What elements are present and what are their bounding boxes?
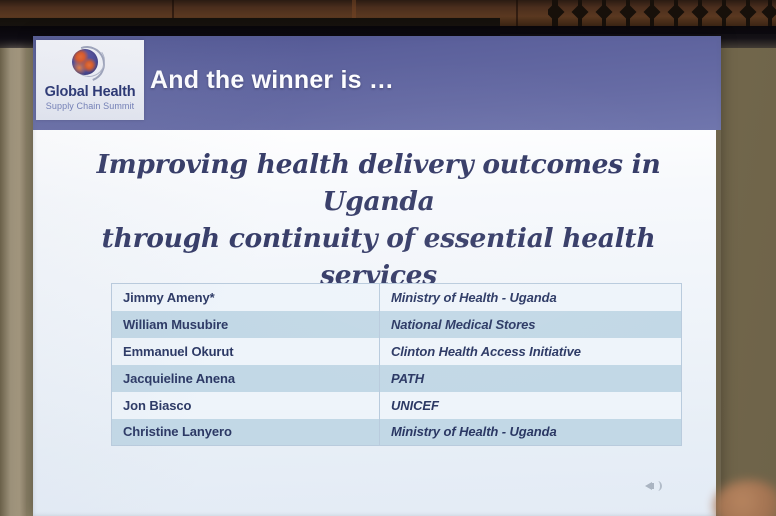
presentation-photo-scene: Global Health Supply Chain Summit And th… bbox=[0, 0, 776, 516]
author-organization: National Medical Stores bbox=[380, 311, 682, 338]
author-name: Christine Lanyero bbox=[112, 419, 380, 446]
speaker-icon[interactable] bbox=[645, 479, 661, 493]
author-name: Jon Biasco bbox=[112, 392, 380, 419]
table-row: Christine Lanyero Ministry of Health - U… bbox=[112, 419, 682, 446]
slide-content-area: Improving health delivery outcomes in Ug… bbox=[33, 130, 716, 516]
wall-left-column bbox=[0, 22, 26, 516]
author-name: Jimmy Ameny* bbox=[112, 284, 380, 311]
authors-table: Jimmy Ameny* Ministry of Health - Uganda… bbox=[111, 283, 682, 446]
table-row: Emmanuel Okurut Clinton Health Access In… bbox=[112, 338, 682, 365]
author-name: Jacquieline Anena bbox=[112, 365, 380, 392]
table-row: Jimmy Ameny* Ministry of Health - Uganda bbox=[112, 284, 682, 311]
table-row: William Musubire National Medical Stores bbox=[112, 311, 682, 338]
projected-slide: Global Health Supply Chain Summit And th… bbox=[33, 36, 721, 516]
summit-logo: Global Health Supply Chain Summit bbox=[36, 40, 144, 120]
author-name: Emmanuel Okurut bbox=[112, 338, 380, 365]
globe-sphere bbox=[72, 49, 98, 75]
author-organization: Ministry of Health - Uganda bbox=[380, 419, 682, 446]
table-row: Jon Biasco UNICEF bbox=[112, 392, 682, 419]
heading-line-1: Improving health delivery outcomes in Ug… bbox=[63, 146, 694, 220]
logo-subtitle: Supply Chain Summit bbox=[36, 101, 144, 111]
logo-name: Global Health bbox=[36, 84, 144, 100]
author-organization: Clinton Health Access Initiative bbox=[380, 338, 682, 365]
author-organization: UNICEF bbox=[380, 392, 682, 419]
authors-table-body: Jimmy Ameny* Ministry of Health - Uganda… bbox=[112, 284, 682, 446]
author-organization: Ministry of Health - Uganda bbox=[380, 284, 682, 311]
table-row: Jacquieline Anena PATH bbox=[112, 365, 682, 392]
speaker-body bbox=[650, 483, 654, 489]
author-name: William Musubire bbox=[112, 311, 380, 338]
speaker-wave bbox=[655, 481, 662, 491]
slide-title: And the winner is … bbox=[150, 66, 394, 95]
author-organization: PATH bbox=[380, 365, 682, 392]
slide-title-bar: Global Health Supply Chain Summit And th… bbox=[33, 36, 721, 130]
globe-icon bbox=[68, 45, 104, 81]
